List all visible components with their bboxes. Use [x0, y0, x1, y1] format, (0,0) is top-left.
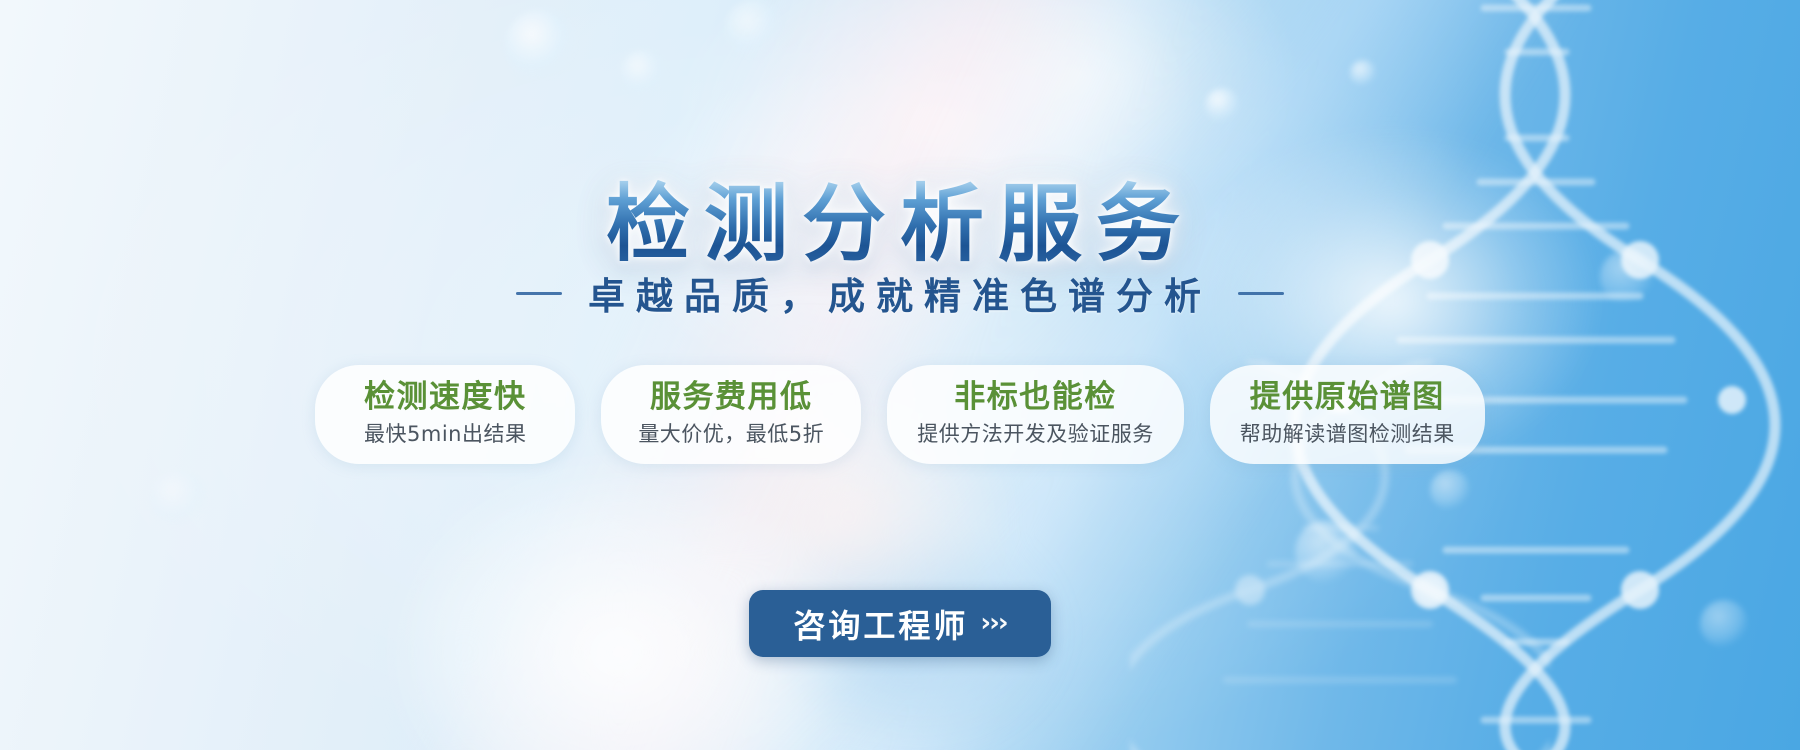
feature-pill-nonstandard[interactable]: 非标也能检 提供方法开发及验证服务: [887, 365, 1184, 464]
hero-banner: 检测分析服务 卓越品质，成就精准色谱分析 检测速度快 最快5min出结果 服务费…: [0, 0, 1800, 750]
feature-pill-raw-spectra[interactable]: 提供原始谱图 帮助解读谱图检测结果: [1210, 365, 1485, 464]
page-subtitle: 卓越品质，成就精准色谱分析: [588, 266, 1212, 320]
banner-content: 检测分析服务 卓越品质，成就精准色谱分析 检测速度快 最快5min出结果 服务费…: [0, 0, 1800, 750]
feature-description: 量大价优，最低5折: [631, 422, 831, 447]
feature-description: 帮助解读谱图检测结果: [1240, 422, 1455, 447]
subtitle-row: 卓越品质，成就精准色谱分析: [0, 266, 1800, 320]
feature-pill-speed[interactable]: 检测速度快 最快5min出结果: [315, 365, 575, 464]
feature-pill-price[interactable]: 服务费用低 量大价优，最低5折: [601, 365, 861, 464]
feature-title: 非标也能检: [917, 379, 1154, 417]
rule-right-decoration: [1238, 292, 1284, 295]
feature-pill-list: 检测速度快 最快5min出结果 服务费用低 量大价优，最低5折 非标也能检 提供…: [0, 365, 1800, 464]
feature-description: 最快5min出结果: [345, 422, 545, 447]
rule-left-decoration: [516, 292, 562, 295]
consult-engineer-button[interactable]: 咨询工程师 ›››: [749, 590, 1050, 657]
feature-title: 检测速度快: [345, 379, 545, 417]
feature-title: 提供原始谱图: [1240, 379, 1455, 417]
page-title: 检测分析服务: [0, 180, 1800, 269]
chevron-right-icon: ›››: [980, 608, 1006, 638]
feature-description: 提供方法开发及验证服务: [917, 422, 1154, 447]
consult-engineer-label: 咨询工程师: [793, 601, 968, 647]
feature-title: 服务费用低: [631, 379, 831, 417]
cta-row: 咨询工程师 ›››: [0, 590, 1800, 657]
